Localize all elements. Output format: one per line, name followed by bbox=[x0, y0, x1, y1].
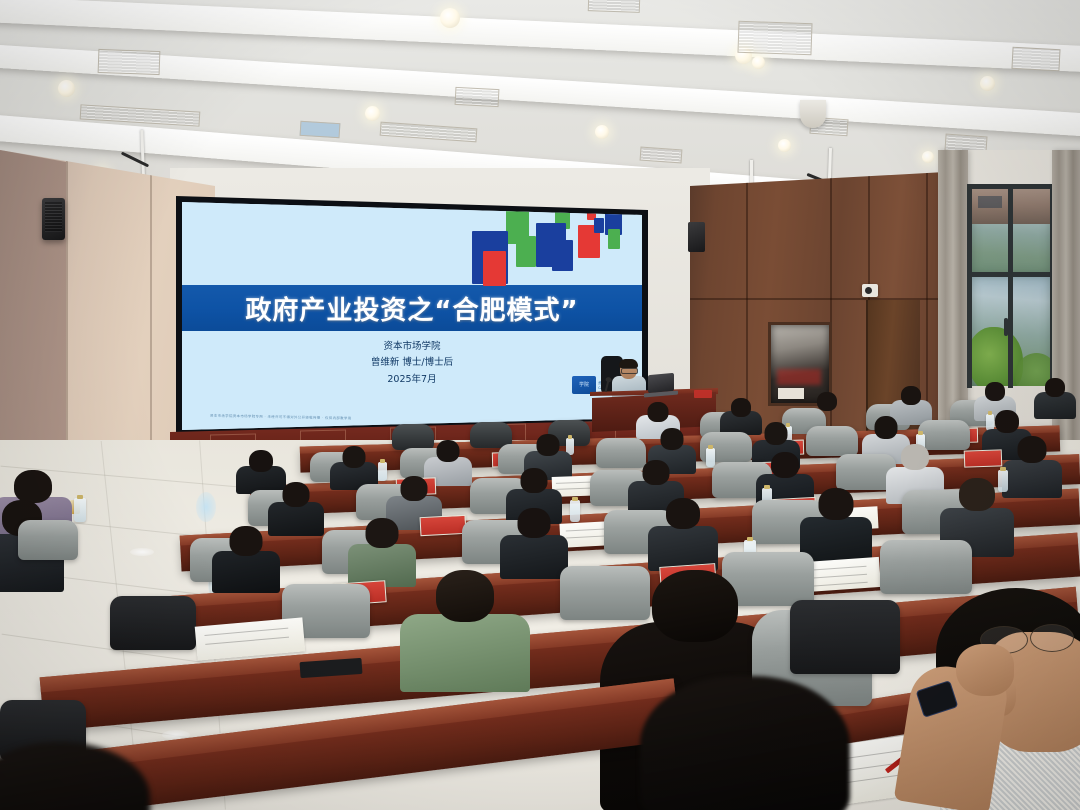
slide-canvas: 政府产业投资之“合肥模式” 资本市场学院 曾维新 博士/博士后 2025年7月 … bbox=[182, 202, 642, 430]
lecture-hall-photo: 政府产业投资之“合肥模式” 资本市场学院 曾维新 博士/博士后 2025年7月 … bbox=[0, 0, 1080, 810]
ceiling-downlight bbox=[752, 56, 765, 69]
seat[interactable] bbox=[110, 596, 196, 650]
ceiling-air-vent bbox=[737, 21, 812, 56]
water-bottle bbox=[74, 498, 86, 522]
attendee bbox=[806, 392, 848, 428]
slide-title: 政府产业投资之“合肥模式” bbox=[182, 285, 642, 331]
attendee bbox=[500, 508, 568, 578]
seat[interactable] bbox=[880, 540, 972, 594]
ceiling-downlight bbox=[365, 106, 380, 121]
ceiling-downlight bbox=[778, 139, 791, 152]
name-placard bbox=[964, 449, 1003, 467]
presentation-screen[interactable]: 政府产业投资之“合肥模式” 资本市场学院 曾维新 博士/博士后 2025年7月 … bbox=[182, 202, 642, 430]
ceiling-downlight bbox=[440, 8, 460, 28]
attendee bbox=[648, 498, 718, 570]
attendee bbox=[330, 446, 378, 488]
wall-speaker-icon bbox=[42, 198, 65, 240]
ceiling-hanger-arm bbox=[121, 152, 149, 168]
foreground-arm bbox=[904, 648, 1034, 808]
ceiling-air-vent bbox=[455, 87, 500, 107]
ceiling-speaker-dome bbox=[800, 100, 826, 128]
ceiling-downlight bbox=[595, 125, 609, 139]
ceiling-air-vent bbox=[300, 121, 341, 138]
foreground-blur-head bbox=[640, 676, 850, 810]
slide-subtitle-line2: 曾维新 博士/博士后 bbox=[182, 355, 642, 372]
ceiling-air-vent bbox=[380, 122, 478, 143]
wood-wall-speaker-icon bbox=[688, 222, 705, 252]
slide-decor-square bbox=[608, 229, 621, 248]
window-frame-top bbox=[967, 184, 1055, 189]
attendee bbox=[1034, 378, 1076, 418]
seat[interactable] bbox=[18, 520, 78, 560]
slide-logo-badge: 学院 bbox=[572, 376, 596, 394]
ceiling-downlight bbox=[980, 76, 995, 91]
ceiling-downlight bbox=[58, 80, 75, 97]
podium-name-placard bbox=[694, 390, 712, 398]
ceiling-camera-icon bbox=[862, 284, 878, 297]
water-bottle bbox=[570, 500, 580, 522]
water-bottle bbox=[706, 448, 715, 467]
ceiling-downlight bbox=[922, 151, 934, 163]
slide-subtitle-line1: 资本市场学院 bbox=[182, 339, 642, 356]
foreground-glasses-icon bbox=[1030, 624, 1074, 652]
ceiling-air-vent bbox=[1011, 47, 1060, 71]
slide-decor-square bbox=[516, 236, 536, 266]
slide-logo-text: 学院 bbox=[579, 381, 589, 388]
presenter-glasses-icon bbox=[621, 368, 638, 374]
ceiling-air-vent bbox=[588, 0, 641, 13]
ceiling-air-vent bbox=[98, 49, 161, 75]
attendee bbox=[400, 570, 530, 690]
window-mullion-vertical bbox=[1008, 186, 1013, 388]
laptop-icon bbox=[648, 373, 674, 393]
slide-decor-square bbox=[552, 240, 573, 272]
window-handle[interactable] bbox=[1004, 318, 1008, 336]
window-mullion-horizontal bbox=[968, 272, 1054, 277]
attendee bbox=[800, 488, 872, 562]
slide-decor-square bbox=[594, 218, 604, 233]
slide-decor-square bbox=[483, 251, 506, 286]
name-placard bbox=[420, 515, 467, 536]
attendee bbox=[212, 526, 280, 592]
ceiling-air-vent bbox=[640, 147, 683, 164]
window-frame-left bbox=[967, 186, 972, 388]
